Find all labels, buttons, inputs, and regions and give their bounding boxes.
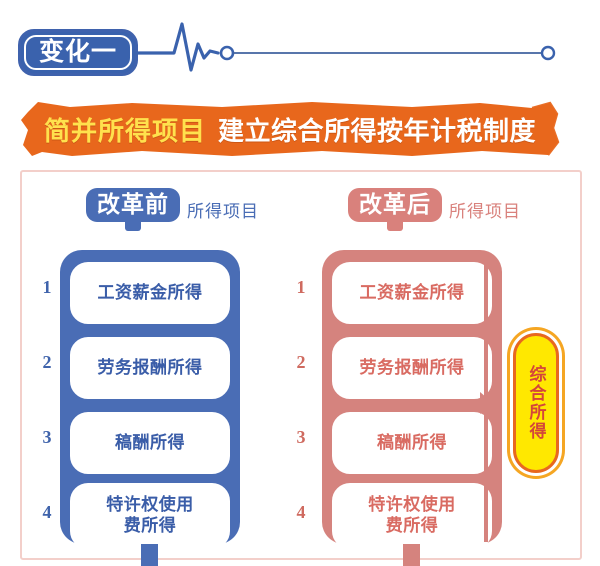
income-item-pill: 稿酬所得 <box>70 412 230 474</box>
infographic-root: 变化一 简并所得项目 建立综合所得按年计税制度 改革前 所得项目 改革后 所得项… <box>0 0 600 566</box>
banner-main-text: 建立综合所得按年计税制度 <box>218 111 536 148</box>
after-reform-column: 工资薪金所得劳务报酬所得稿酬所得特许权使用费所得 <box>322 250 502 544</box>
column-header-before: 改革前 所得项目 <box>86 188 259 222</box>
before-reform-badge: 改革前 <box>86 188 180 222</box>
income-item-label: 工资薪金所得 <box>98 283 203 304</box>
right-arrow-icon <box>480 392 493 414</box>
income-item-label: 特许权使用费所得 <box>368 495 456 536</box>
heartbeat-line-icon <box>134 18 566 76</box>
before-reform-column: 工资薪金所得劳务报酬所得稿酬所得特许权使用费所得 <box>60 250 240 544</box>
before-column-stem <box>141 544 158 566</box>
income-item-index: 1 <box>36 277 58 298</box>
income-item-index: 4 <box>36 502 58 523</box>
income-item-pill: 特许权使用费所得 <box>332 483 492 549</box>
after-reform-subtitle: 所得项目 <box>449 188 521 222</box>
before-reform-subtitle: 所得项目 <box>187 188 259 222</box>
change-number-badge-label: 变化一 <box>39 40 117 65</box>
after-column-stem <box>403 544 420 566</box>
income-item-label: 工资薪金所得 <box>360 283 465 304</box>
comprehensive-income-label: 综合所得 <box>528 365 545 441</box>
ecg-left-dot-icon <box>221 47 233 59</box>
change-number-badge: 变化一 <box>18 29 138 76</box>
income-item-label: 稿酬所得 <box>377 433 447 454</box>
income-item-index: 2 <box>36 352 58 373</box>
income-item-pill: 工资薪金所得 <box>332 262 492 324</box>
income-item-index: 3 <box>36 427 58 448</box>
income-item-label: 劳务报酬所得 <box>360 358 465 379</box>
income-item-pill: 劳务报酬所得 <box>332 337 492 399</box>
income-item-index: 3 <box>290 427 312 448</box>
income-item-label: 特许权使用费所得 <box>106 495 194 536</box>
income-item-pill: 工资薪金所得 <box>70 262 230 324</box>
column-header-after: 改革后 所得项目 <box>348 188 521 222</box>
income-item-pill: 稿酬所得 <box>332 412 492 474</box>
income-item-label: 稿酬所得 <box>115 433 185 454</box>
comprehensive-income-result: 综合所得 <box>513 333 559 473</box>
after-reform-badge: 改革后 <box>348 188 442 222</box>
section-banner: 简并所得项目 建立综合所得按年计税制度 <box>12 98 572 160</box>
income-item-index: 2 <box>290 352 312 373</box>
income-item-pill: 劳务报酬所得 <box>70 337 230 399</box>
banner-highlight-text: 简并所得项目 <box>44 111 206 148</box>
top-header-strip: 变化一 <box>0 0 600 95</box>
income-item-index: 1 <box>290 277 312 298</box>
income-item-index: 4 <box>290 502 312 523</box>
income-item-pill: 特许权使用费所得 <box>70 483 230 549</box>
income-item-label: 劳务报酬所得 <box>98 358 203 379</box>
banner-text-group: 简并所得项目 建立综合所得按年计税制度 <box>44 98 536 160</box>
ecg-right-dot-icon <box>542 47 554 59</box>
